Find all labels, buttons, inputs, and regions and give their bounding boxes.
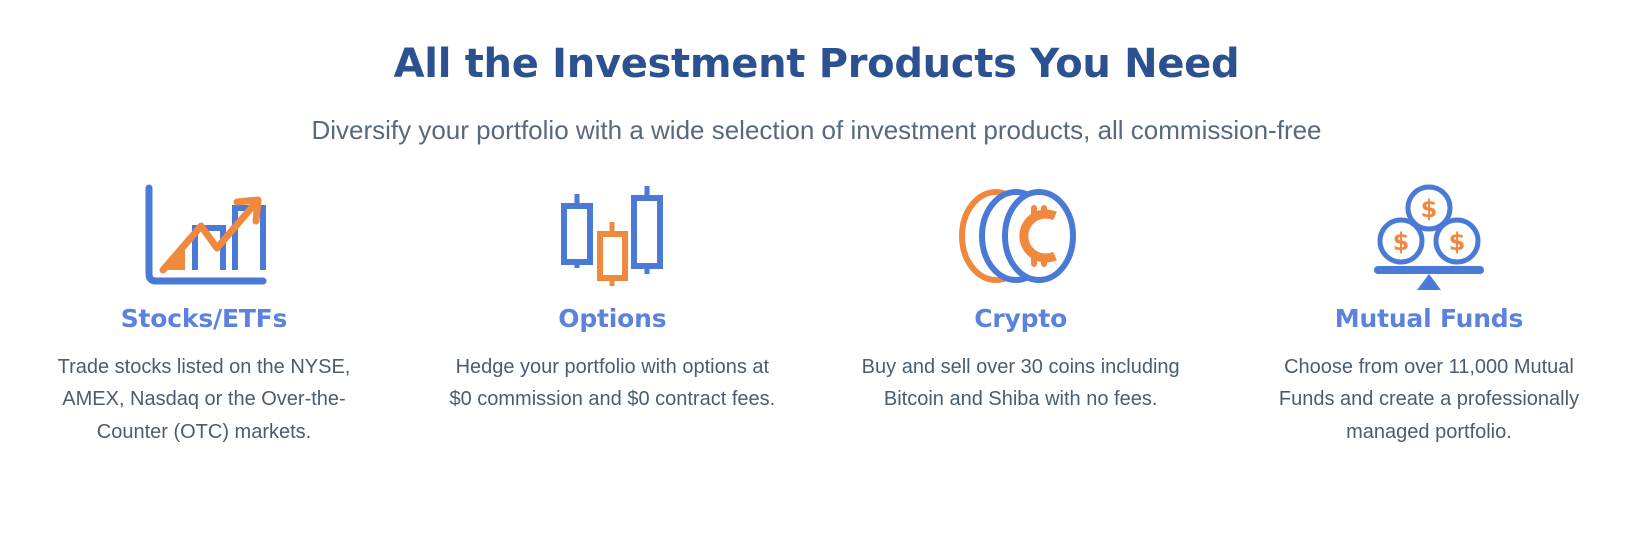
bar-chart-growth-icon [139,182,269,290]
product-card-title: Options [558,304,666,333]
investment-products-section: All the Investment Products You Need Div… [0,0,1633,546]
product-card-description: Hedge your portfolio with options at $0 … [447,351,777,416]
svg-text:$: $ [1393,228,1410,256]
svg-text:$: $ [1449,228,1466,256]
product-card-title: Stocks/ETFs [121,304,287,333]
product-card-mutual-funds[interactable]: $ $ $ Mutual Funds Choose from over 11,0… [1225,182,1633,449]
svg-text:$: $ [1421,195,1438,223]
product-card-crypto[interactable]: Crypto Buy and sell over 30 coins includ… [817,182,1225,416]
balance-scale-coins-icon: $ $ $ [1364,182,1494,290]
product-card-title: Mutual Funds [1335,304,1523,333]
product-card-list: Stocks/ETFs Trade stocks listed on the N… [0,182,1633,449]
crypto-coins-icon [951,182,1091,290]
product-card-description: Buy and sell over 30 coins including Bit… [856,351,1186,416]
page-title: All the Investment Products You Need [394,40,1240,88]
product-card-description: Trade stocks listed on the NYSE, AMEX, N… [39,351,369,449]
candlestick-chart-icon [547,182,677,290]
product-card-stocks-etfs[interactable]: Stocks/ETFs Trade stocks listed on the N… [0,182,408,449]
product-card-description: Choose from over 11,000 Mutual Funds and… [1267,351,1591,449]
page-subtitle: Diversify your portfolio with a wide sel… [311,114,1321,148]
product-card-title: Crypto [974,304,1067,333]
product-card-options[interactable]: Options Hedge your portfolio with option… [408,182,816,416]
